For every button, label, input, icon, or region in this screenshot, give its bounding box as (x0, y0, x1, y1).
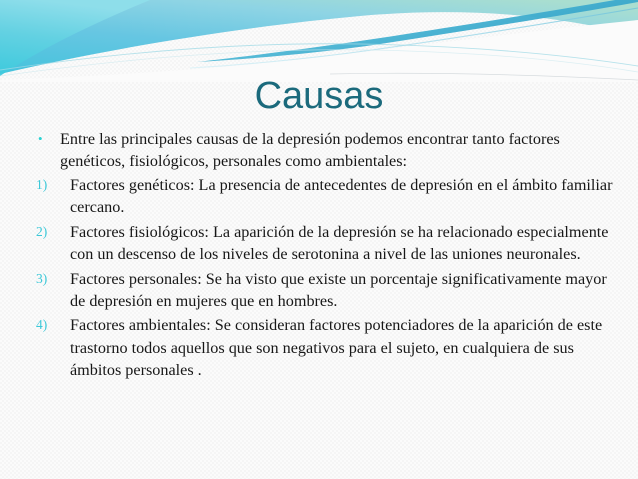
numbered-item: 2) Factores fisiológicos: La aparición d… (28, 221, 614, 266)
numbered-item: 4) Factores ambientales: Se consideran f… (28, 314, 614, 381)
numbered-item-text: Factores ambientales: Se consideran fact… (70, 314, 614, 381)
slide-title: Causas (0, 74, 638, 118)
list-number-marker: 1) (36, 174, 62, 196)
dot-bullet-icon: • (38, 128, 43, 150)
numbered-item: 1) Factores genéticos: La presencia de a… (28, 174, 614, 219)
bullet-item: • Entre las principales causas de la dep… (28, 128, 614, 172)
numbered-item-text: Factores personales: Se ha visto que exi… (70, 268, 614, 313)
bullet-text: Entre las principales causas de la depre… (60, 128, 614, 172)
numbered-item: 3) Factores personales: Se ha visto que … (28, 268, 614, 313)
list-number-marker: 3) (36, 268, 62, 290)
list-number-marker: 2) (36, 221, 62, 243)
presentation-slide: Causas • Entre las principales causas de… (0, 0, 638, 479)
slide-body-content: • Entre las principales causas de la dep… (28, 128, 614, 382)
header-wave-decoration (0, 0, 638, 82)
list-number-marker: 4) (36, 314, 62, 336)
numbered-item-text: Factores fisiológicos: La aparición de l… (70, 221, 614, 266)
numbered-item-text: Factores genéticos: La presencia de ante… (70, 174, 614, 219)
